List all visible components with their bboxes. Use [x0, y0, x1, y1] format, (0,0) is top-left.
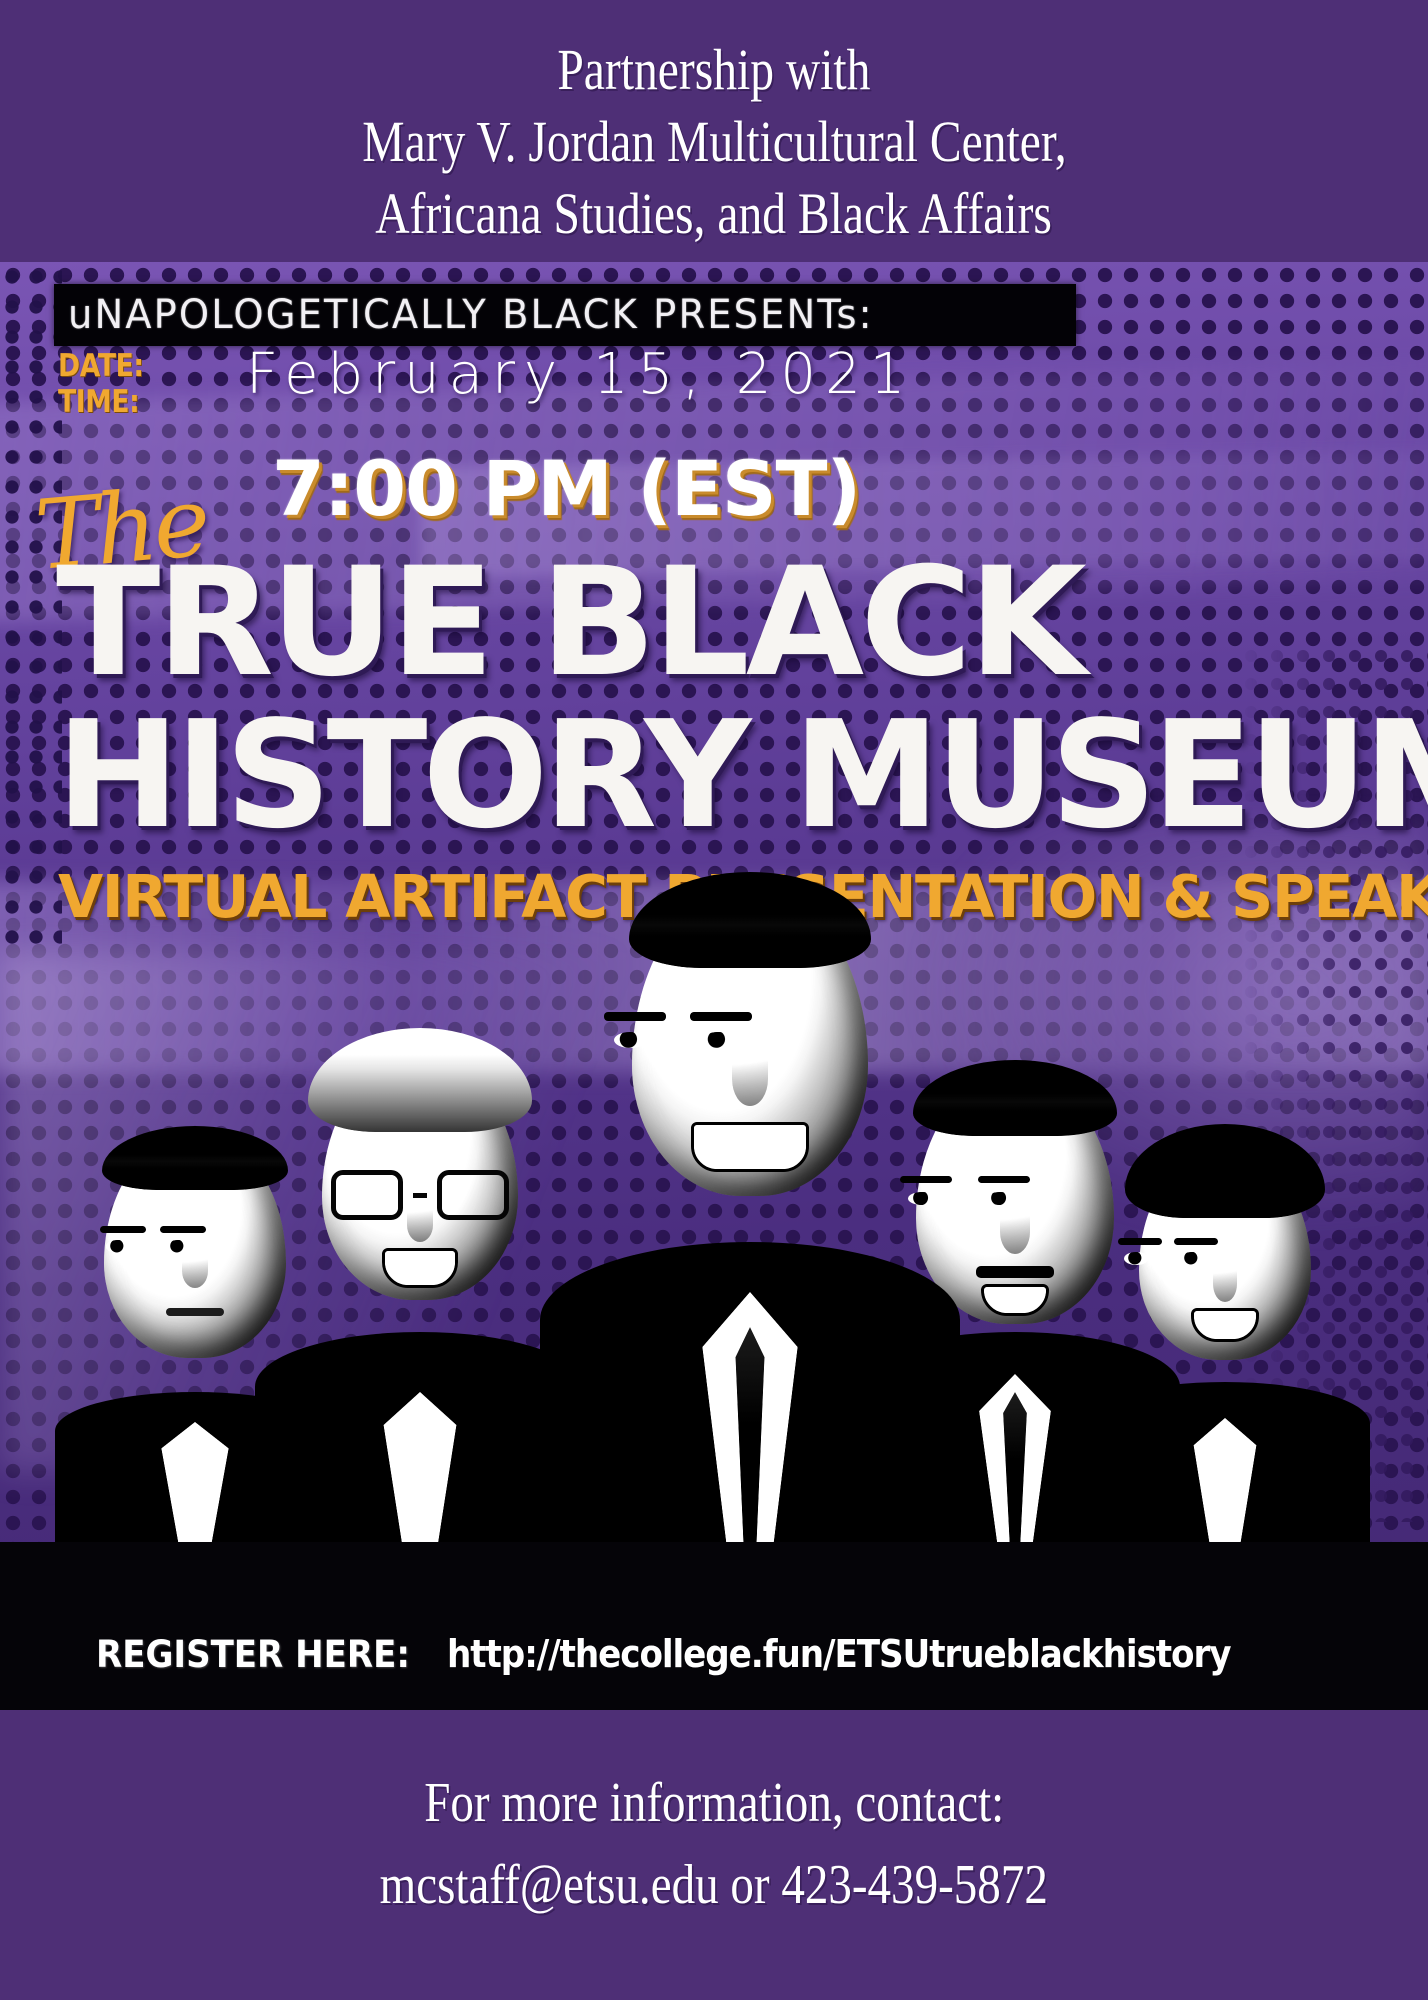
date-label: DATE: — [58, 348, 144, 384]
portrait-woman-glasses — [255, 1012, 585, 1542]
flyer-graphic: uNAPOLOGETICALLY BLACK PRESENTs: DATE: T… — [0, 262, 1428, 1710]
contact-footer: For more information, contact: mcstaff@e… — [0, 1710, 1428, 2000]
register-url-link[interactable]: http://thecollege.fun/ETSUtrueblackhisto… — [447, 1632, 1230, 1676]
presents-banner: uNAPOLOGETICALLY BLACK PRESENTs: — [54, 284, 1076, 346]
register-bar: REGISTER HERE: http://thecollege.fun/ETS… — [0, 1542, 1428, 1710]
event-flyer-poster: Partnership with Mary V. Jordan Multicul… — [0, 0, 1428, 2000]
event-date-value: February 15, 2021 — [246, 342, 914, 407]
footer-line-1: For more information, contact: — [424, 1762, 1004, 1844]
footer-line-2: mcstaff@etsu.edu or 423-439-5872 — [380, 1844, 1048, 1926]
event-time-value: 7:00 PM (EST) — [272, 444, 860, 533]
header-line-2: Mary V. Jordan Multicultural Center, — [362, 106, 1066, 178]
main-title-line-2: HISTORY MUSEUM — [56, 698, 1376, 852]
main-title: TRUE BLACK HISTORY MUSEUM — [56, 548, 1376, 852]
header-line-3: Africana Studies, and Black Affairs — [376, 178, 1053, 250]
portrait-man-suit-center — [540, 862, 960, 1542]
main-title-line-1: TRUE BLACK — [56, 548, 1402, 698]
date-time-label-group: DATE: TIME: — [58, 348, 158, 420]
presents-banner-text: uNAPOLOGETICALLY BLACK PRESENTs: — [68, 292, 874, 338]
halftone-dots-left — [0, 262, 62, 952]
time-label: TIME: — [58, 384, 144, 420]
partnership-header: Partnership with Mary V. Jordan Multicul… — [0, 0, 1428, 262]
header-line-1: Partnership with — [557, 34, 870, 106]
register-label: REGISTER HERE: — [96, 1633, 410, 1676]
portrait-collage — [0, 862, 1428, 1542]
